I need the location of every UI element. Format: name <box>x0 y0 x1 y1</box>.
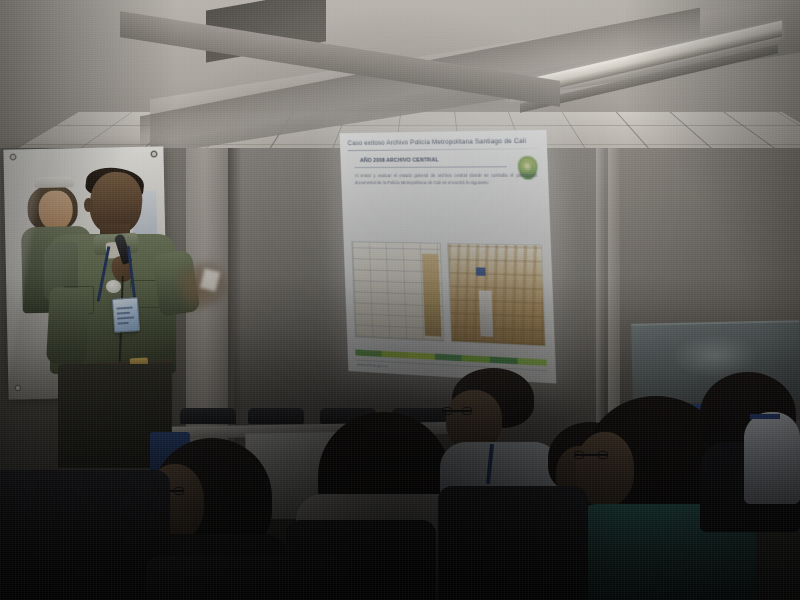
slide-footer-url: www.policia.gov.co <box>357 363 388 369</box>
slide-color-bar-segment-2 <box>381 351 408 359</box>
slide-photo-group <box>351 241 546 347</box>
audience-person-far-right-badge <box>744 412 800 504</box>
eyeglasses-icon <box>574 454 608 456</box>
audience-face <box>446 390 502 450</box>
lanyard-strap <box>750 414 780 419</box>
presenter-uniform-medal <box>106 280 121 293</box>
badge-text-line-4 <box>118 322 129 324</box>
slide-color-bar-segment-6 <box>490 357 519 365</box>
slide-subtitle: AÑO 2008 ARCHIVO CENTRAL <box>360 157 539 164</box>
presenter-left-arm <box>46 287 90 365</box>
badge-text-line-3 <box>117 316 134 319</box>
audience-torso <box>744 412 800 504</box>
photo-archive-shelves <box>351 241 444 342</box>
right-wall-corner <box>596 110 606 430</box>
slide-color-bar-segment-5 <box>462 355 490 363</box>
slide-subtitle-divider <box>354 166 506 168</box>
foreground-chair-right <box>438 486 588 600</box>
badge-text-line-1 <box>116 307 132 310</box>
foreground-chair-left <box>0 470 170 600</box>
id-badge-lanyard <box>112 297 140 333</box>
photo-scene: Caso exitoso Archivo Policía Metropolita… <box>0 0 800 600</box>
presenter-ear <box>84 198 93 212</box>
slide-color-bar-segment-1 <box>355 349 381 356</box>
slide-color-bar-segment-4 <box>435 354 463 362</box>
slide-body-text: Al entrar y evaluar el estado general de… <box>355 172 538 186</box>
eyeglasses-icon <box>442 410 472 412</box>
suspended-tile-ceiling <box>0 0 800 148</box>
photo-archive-disorder <box>447 243 546 347</box>
chair-back-2 <box>248 408 304 424</box>
projection-screen: Caso exitoso Archivo Policía Metropolita… <box>340 130 557 384</box>
slide-title-divider <box>348 148 538 151</box>
door-frame <box>608 120 620 420</box>
slide-title: Caso exitoso Archivo Policía Metropolita… <box>348 137 539 147</box>
chair-back-1 <box>180 408 236 424</box>
slide-color-bar-segment-7 <box>518 358 547 366</box>
presentation-slide: Caso exitoso Archivo Policía Metropolita… <box>340 130 557 384</box>
slide-color-bar-segment-3 <box>408 352 435 360</box>
badge-text-line-2 <box>117 312 130 314</box>
foreground-chair-bottom <box>146 556 346 600</box>
